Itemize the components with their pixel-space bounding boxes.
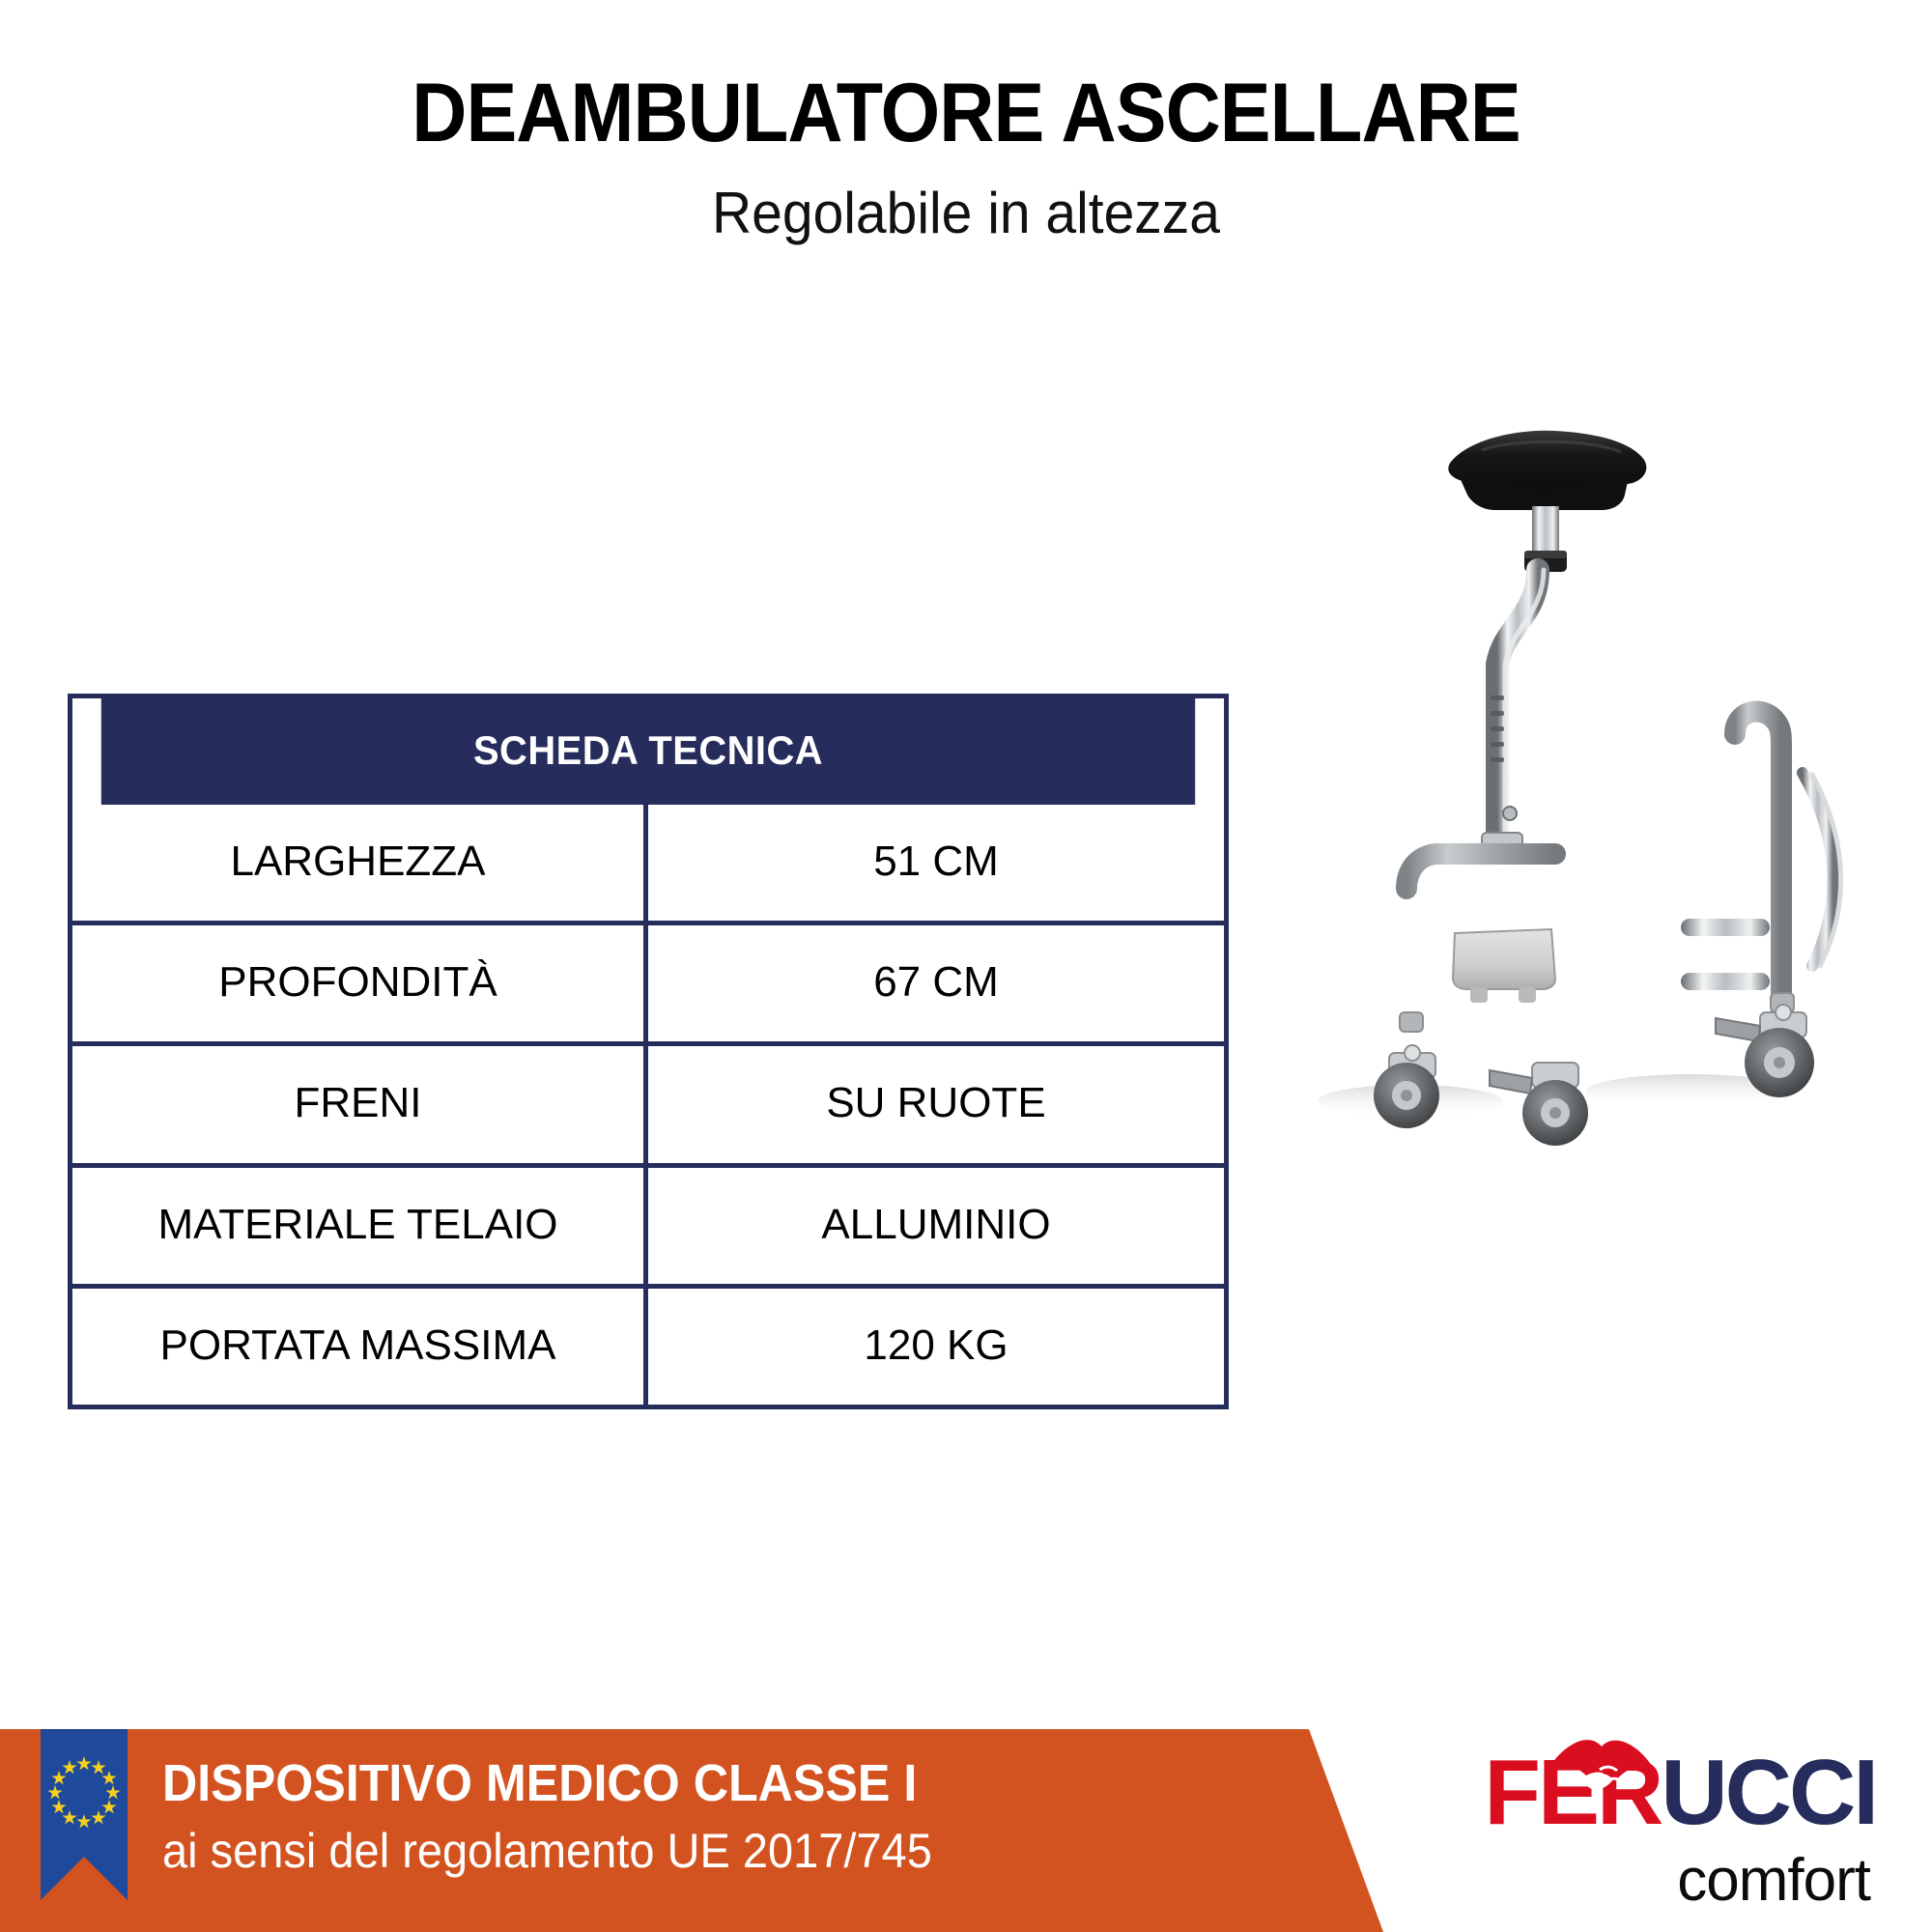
- spec-table-body: LARGHEZZA 51 CM PROFONDITÀ 67 CM FRENI S…: [72, 805, 1224, 1405]
- caster-wheel-rear: [1490, 1063, 1588, 1146]
- spec-label: LARGHEZZA: [72, 805, 648, 921]
- spec-label: PORTATA MASSIMA: [72, 1289, 648, 1405]
- brake-lever: [1716, 1018, 1760, 1041]
- brand-logo: FERUCCI comfort: [1364, 1747, 1876, 1911]
- table-row: FRENI SU RUOTE: [72, 1041, 1224, 1162]
- brand-name-part3: UCCI: [1661, 1741, 1876, 1844]
- page-subtitle: Regolabile in altezza: [48, 182, 1884, 245]
- banner-line-secondary: ai sensi del regolamento UE 2017/745: [162, 1824, 932, 1880]
- spec-value: SU RUOTE: [648, 1046, 1224, 1162]
- brand-name-part2: R: [1597, 1741, 1661, 1844]
- spec-value: 120 KG: [648, 1289, 1224, 1405]
- eu-flag-ribbon-icon: [41, 1721, 128, 1900]
- spec-table: SCHEDA TECNICA LARGHEZZA 51 CM PROFONDIT…: [68, 694, 1229, 1409]
- spec-value: ALLUMINIO: [648, 1168, 1224, 1284]
- brand-wordmark: FERUCCI: [1364, 1747, 1876, 1839]
- table-row: PORTATA MASSIMA 120 KG: [72, 1284, 1224, 1405]
- brand-name-part1: FE: [1484, 1741, 1597, 1844]
- brand-tagline: comfort: [1364, 1851, 1876, 1911]
- spec-label: PROFONDITÀ: [72, 925, 648, 1041]
- spec-value: 67 CM: [648, 925, 1224, 1041]
- spec-value: 51 CM: [648, 805, 1224, 921]
- table-row: MATERIALE TELAIO ALLUMINIO: [72, 1163, 1224, 1284]
- banner-text-block: DISPOSITIVO MEDICO CLASSE I ai sensi del…: [162, 1754, 981, 1880]
- banner-line-primary: DISPOSITIVO MEDICO CLASSE I: [162, 1754, 923, 1812]
- table-row: PROFONDITÀ 67 CM: [72, 921, 1224, 1041]
- page-title: DEAMBULATORE ASCELLARE: [77, 70, 1855, 156]
- medical-device-banner: DISPOSITIVO MEDICO CLASSE I ai sensi del…: [0, 1729, 1391, 1932]
- brake-lever: [1490, 1070, 1532, 1094]
- table-row: LARGHEZZA 51 CM: [72, 805, 1224, 921]
- spec-table-heading: SCHEDA TECNICA: [101, 698, 1195, 805]
- axillary-pad: [1448, 431, 1646, 510]
- spec-label: MATERIALE TELAIO: [72, 1168, 648, 1284]
- product-image: [1265, 386, 1903, 1150]
- caster-wheel-front: [1374, 1045, 1439, 1128]
- chrome-adjustable-post: [1482, 570, 1544, 852]
- spec-label: FRENI: [72, 1046, 648, 1162]
- page-header: DEAMBULATORE ASCELLARE Regolabile in alt…: [0, 0, 1932, 245]
- aluminium-frame: [1400, 712, 1841, 1063]
